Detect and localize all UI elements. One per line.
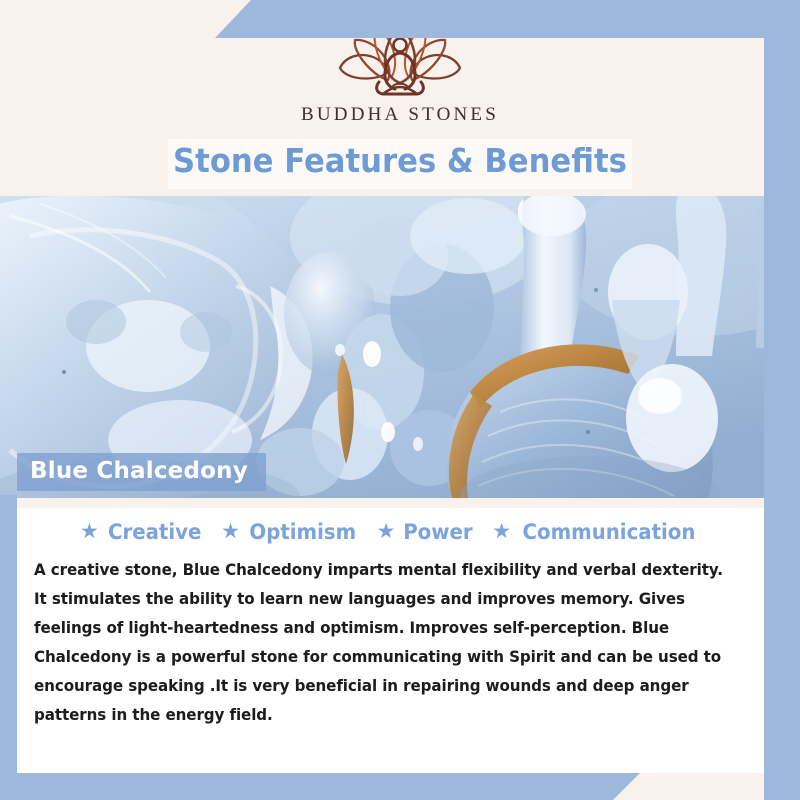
content-top-strip — [17, 498, 764, 508]
content-panel: ★ Creative ★ Optimism ★ Power ★ Communic… — [17, 498, 764, 773]
decorative-band-bottom — [0, 773, 640, 800]
description-text: A creative stone, Blue Chalcedony impart… — [34, 556, 728, 730]
stone-name-text: Blue Chalcedony — [30, 458, 248, 484]
star-icon: ★ — [80, 521, 99, 542]
star-icon: ★ — [377, 521, 396, 542]
keyword-label: Creative — [108, 520, 201, 544]
decorative-band-left — [0, 495, 17, 800]
decorative-band-top-right — [215, 0, 800, 38]
keyword-item-optimism: ★ Optimism — [221, 520, 359, 544]
star-icon: ★ — [221, 521, 240, 542]
page-title: Stone Features & Benefits — [28, 141, 772, 180]
keyword-label: Power — [404, 520, 473, 544]
keyword-item-communication: ★ Communication — [492, 520, 701, 544]
keyword-item-power: ★ Power — [377, 520, 476, 544]
brand-name: BUDDHA STONES — [301, 104, 499, 126]
keyword-list: ★ Creative ★ Optimism ★ Power ★ Communic… — [17, 520, 764, 544]
product-info-card: BUDDHA STONES Stone Features & Benefits — [0, 0, 800, 800]
keyword-item-creative: ★ Creative — [80, 520, 204, 544]
star-icon: ★ — [492, 521, 511, 542]
stone-name-badge: Blue Chalcedony — [17, 453, 266, 491]
keyword-label: Optimism — [249, 520, 356, 544]
keyword-label: Communication — [523, 520, 696, 544]
